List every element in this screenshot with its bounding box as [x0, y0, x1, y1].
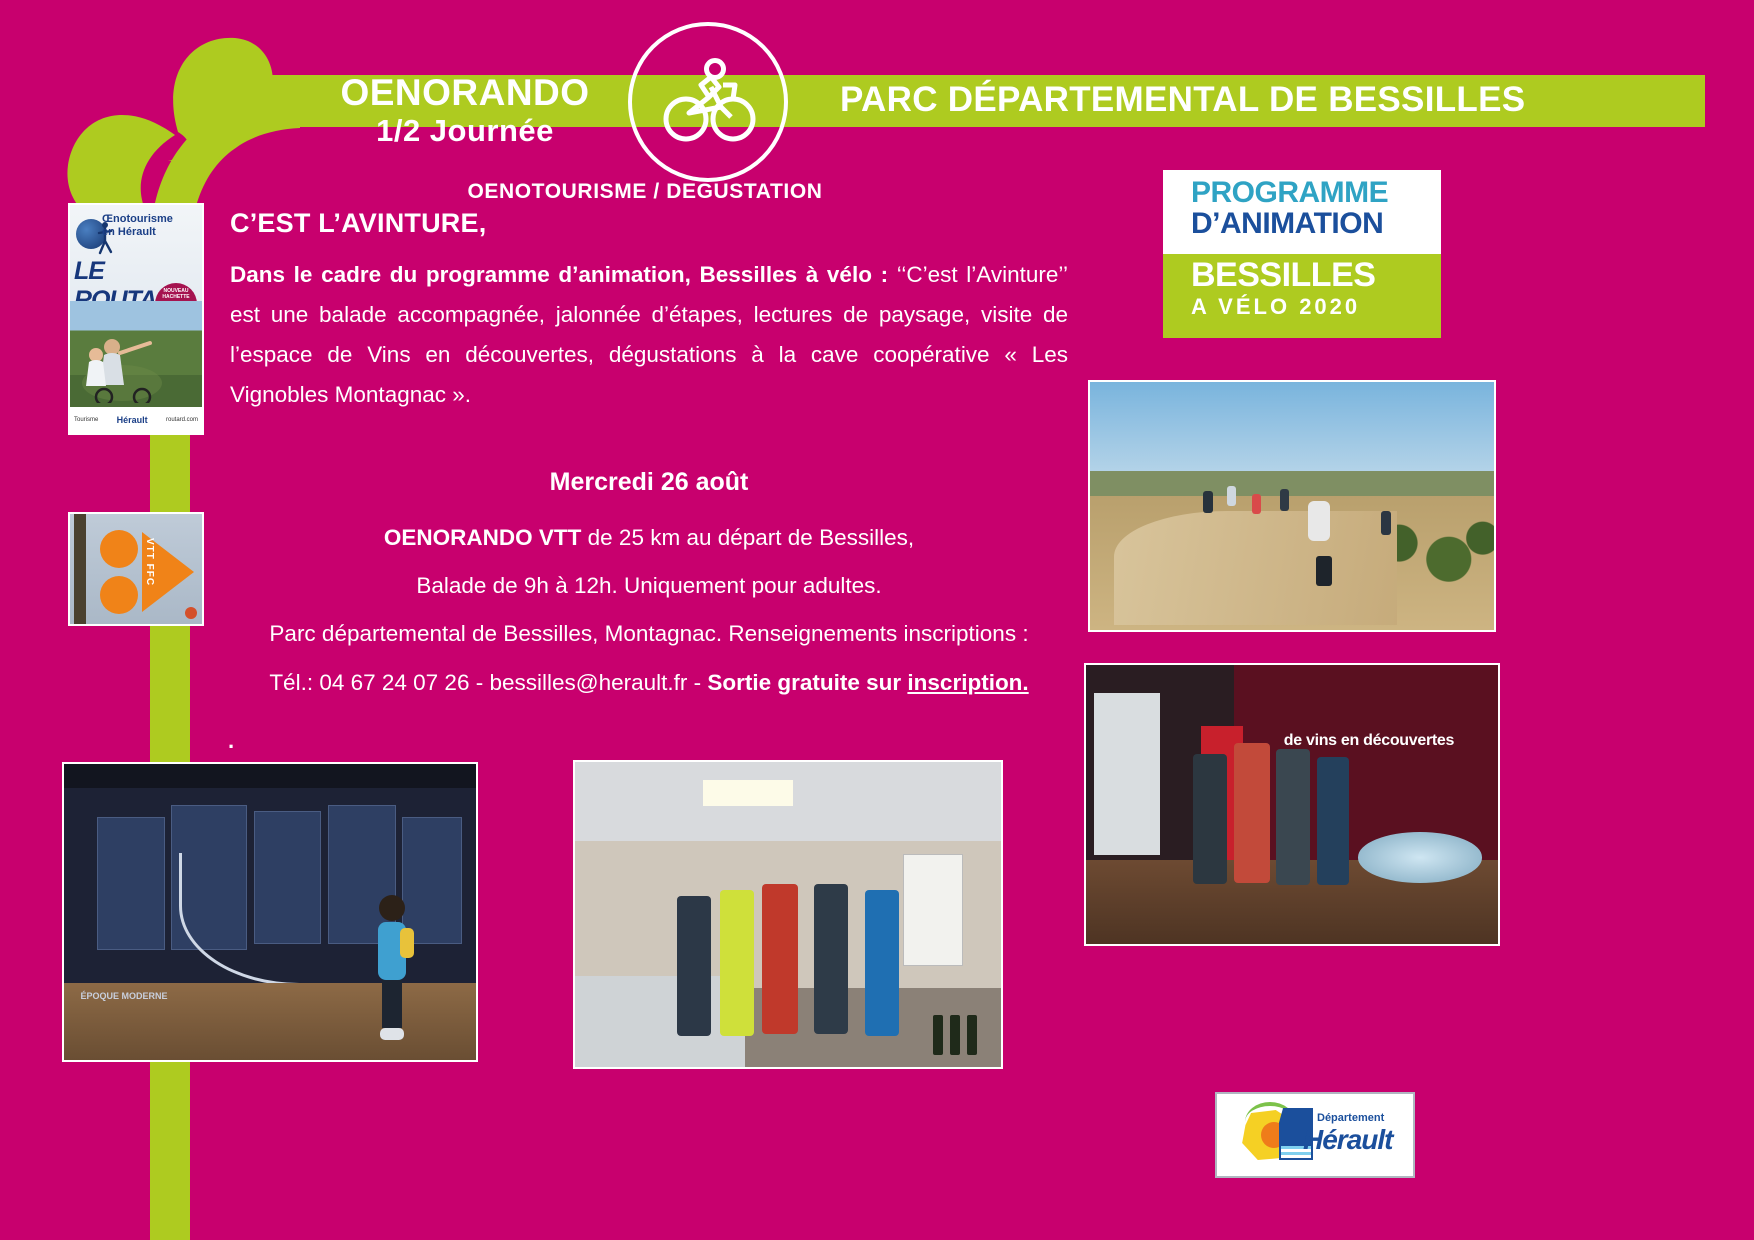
shop-bottle-2 — [967, 1015, 977, 1055]
expo-visitor-1 — [1193, 754, 1227, 884]
rider-3 — [1252, 494, 1261, 514]
shop-visitor-3 — [762, 884, 798, 1034]
event-distance-text: de 25 km au départ de Bessilles, — [581, 525, 914, 550]
programme-logo-green-band: BESSILLES A VÉLO 2020 — [1163, 254, 1441, 338]
shop-visitor-2 — [720, 890, 754, 1036]
museum-ceiling — [64, 764, 476, 788]
ffc-circle-top — [100, 530, 138, 568]
routard-foot-brand: Hérault — [117, 415, 148, 425]
header-title-parc: PARC DÉPARTEMENTAL DE BESSILLES — [840, 80, 1500, 120]
routard-guide-cover: Œnotourisme en Hérault LE ROUTARD NOUVEA… — [68, 203, 204, 435]
ffc-label: VTT FFC — [144, 538, 155, 586]
routard-oeno-line2: en Hérault — [102, 226, 198, 239]
cyclist-icon — [628, 22, 788, 182]
header-left-title-group: OENORANDO 1/2 Journée — [300, 74, 630, 146]
programme-line4: A VÉLO 2020 — [1191, 294, 1441, 319]
expo-red-wall — [1234, 665, 1498, 860]
event-contact-line: Tél.: 04 67 24 07 26 - bessilles@herault… — [230, 670, 1068, 696]
museum-visitor-child — [366, 892, 418, 1042]
vtt-ffc-sign-photo: VTT FFC — [68, 512, 204, 626]
routard-oeno-line1: Œnotourisme — [102, 213, 198, 226]
rider-foreground-jersey — [1308, 501, 1330, 541]
programme-line2: D’ANIMATION — [1191, 208, 1441, 240]
expo-visitor-2 — [1234, 743, 1270, 883]
rider-1 — [1203, 491, 1213, 513]
event-hours-line: Balade de 9h à 12h. Uniquement pour adul… — [230, 573, 1068, 599]
shop-poster — [903, 854, 963, 966]
poster-root: OENORANDO 1/2 Journée PARC DÉPARTEMENTAL… — [0, 0, 1754, 1240]
description-bold-lead: Dans le cadre du programme d’animation, … — [230, 262, 888, 287]
routard-foot-right: routard.com — [166, 417, 198, 423]
expo-wall-caption: de vins en découvertes — [1284, 732, 1454, 750]
shop-visitor-1 — [677, 896, 711, 1036]
photo-mountain-bikers-on-trail — [1088, 380, 1496, 632]
herault-department-logo: Département Hérault — [1215, 1092, 1415, 1178]
programme-logo-white-band: PROGRAMME D’ANIMATION — [1163, 170, 1441, 254]
museum-caption: ÉPOQUE MODERNE — [80, 991, 167, 1001]
event-location-line: Parc départemental de Bessilles, Montagn… — [230, 621, 1068, 647]
event-activity-label: OENORANDO VTT — [384, 525, 582, 550]
ffc-red-dot — [185, 607, 197, 619]
section-kicker: OENOTOURISME / DEGUSTATION — [230, 180, 1060, 204]
free-entry-label: Sortie gratuite sur — [707, 670, 907, 695]
herault-department-label: Département — [1317, 1112, 1384, 1124]
trail-dirt-path — [1114, 511, 1397, 625]
expo-display-shelf — [1094, 693, 1160, 855]
programme-animation-logo: PROGRAMME D’ANIMATION BESSILLES A VÉLO 2… — [1163, 170, 1441, 338]
couple-on-bike-illustration — [76, 331, 172, 403]
trailing-dot: . — [228, 728, 234, 754]
programme-line3: BESSILLES — [1191, 258, 1441, 294]
photo-museum-exhibition: ÉPOQUE MODERNE — [62, 762, 478, 1062]
rider-5 — [1381, 511, 1391, 535]
rider-4 — [1280, 489, 1289, 511]
trail-sky — [1090, 382, 1494, 481]
event-date: Mercredi 26 août — [230, 468, 1068, 497]
routard-foot-left: Tourisme — [74, 417, 98, 423]
cyclist-icon-svg — [653, 47, 763, 157]
inscription-link[interactable]: inscription. — [907, 670, 1028, 695]
routard-footer: Tourisme Hérault routard.com — [70, 407, 202, 433]
routard-cover-photo — [70, 301, 202, 407]
rider-2 — [1227, 486, 1236, 506]
shop-visitor-4 — [814, 884, 848, 1034]
photo-de-vins-en-decouvertes: de vins en découvertes — [1084, 663, 1500, 946]
contact-phone-email[interactable]: Tél.: 04 67 24 07 26 - bessilles@herault… — [269, 670, 707, 695]
expo-relief-model — [1358, 832, 1482, 882]
shop-bottle-1 — [950, 1015, 960, 1055]
photo-wine-cellar-shop — [573, 760, 1003, 1069]
header-subtitle-half-day: 1/2 Journée — [300, 115, 630, 146]
expo-visitor-3 — [1276, 749, 1310, 885]
routard-oenotourisme-label: Œnotourisme en Hérault — [102, 213, 198, 238]
page-title: C’EST L’AVINTURE, — [230, 208, 486, 239]
programme-line1: PROGRAMME — [1191, 178, 1441, 208]
ffc-circle-bottom — [100, 576, 138, 614]
shop-bottle-3 — [933, 1015, 943, 1055]
herault-logo-name: Hérault — [1303, 1124, 1392, 1156]
description-paragraph: Dans le cadre du programme d’animation, … — [230, 255, 1068, 415]
header-title-oenorando: OENORANDO — [300, 74, 630, 111]
expo-visitor-4 — [1317, 757, 1349, 885]
museum-panel-1 — [97, 817, 165, 949]
shop-ceiling-light — [703, 780, 793, 806]
shop-visitor-5 — [865, 890, 899, 1036]
rider-foreground-bike — [1316, 556, 1332, 586]
event-distance-line: OENORANDO VTT de 25 km au départ de Bess… — [230, 525, 1068, 551]
ffc-sign-post — [74, 514, 86, 624]
